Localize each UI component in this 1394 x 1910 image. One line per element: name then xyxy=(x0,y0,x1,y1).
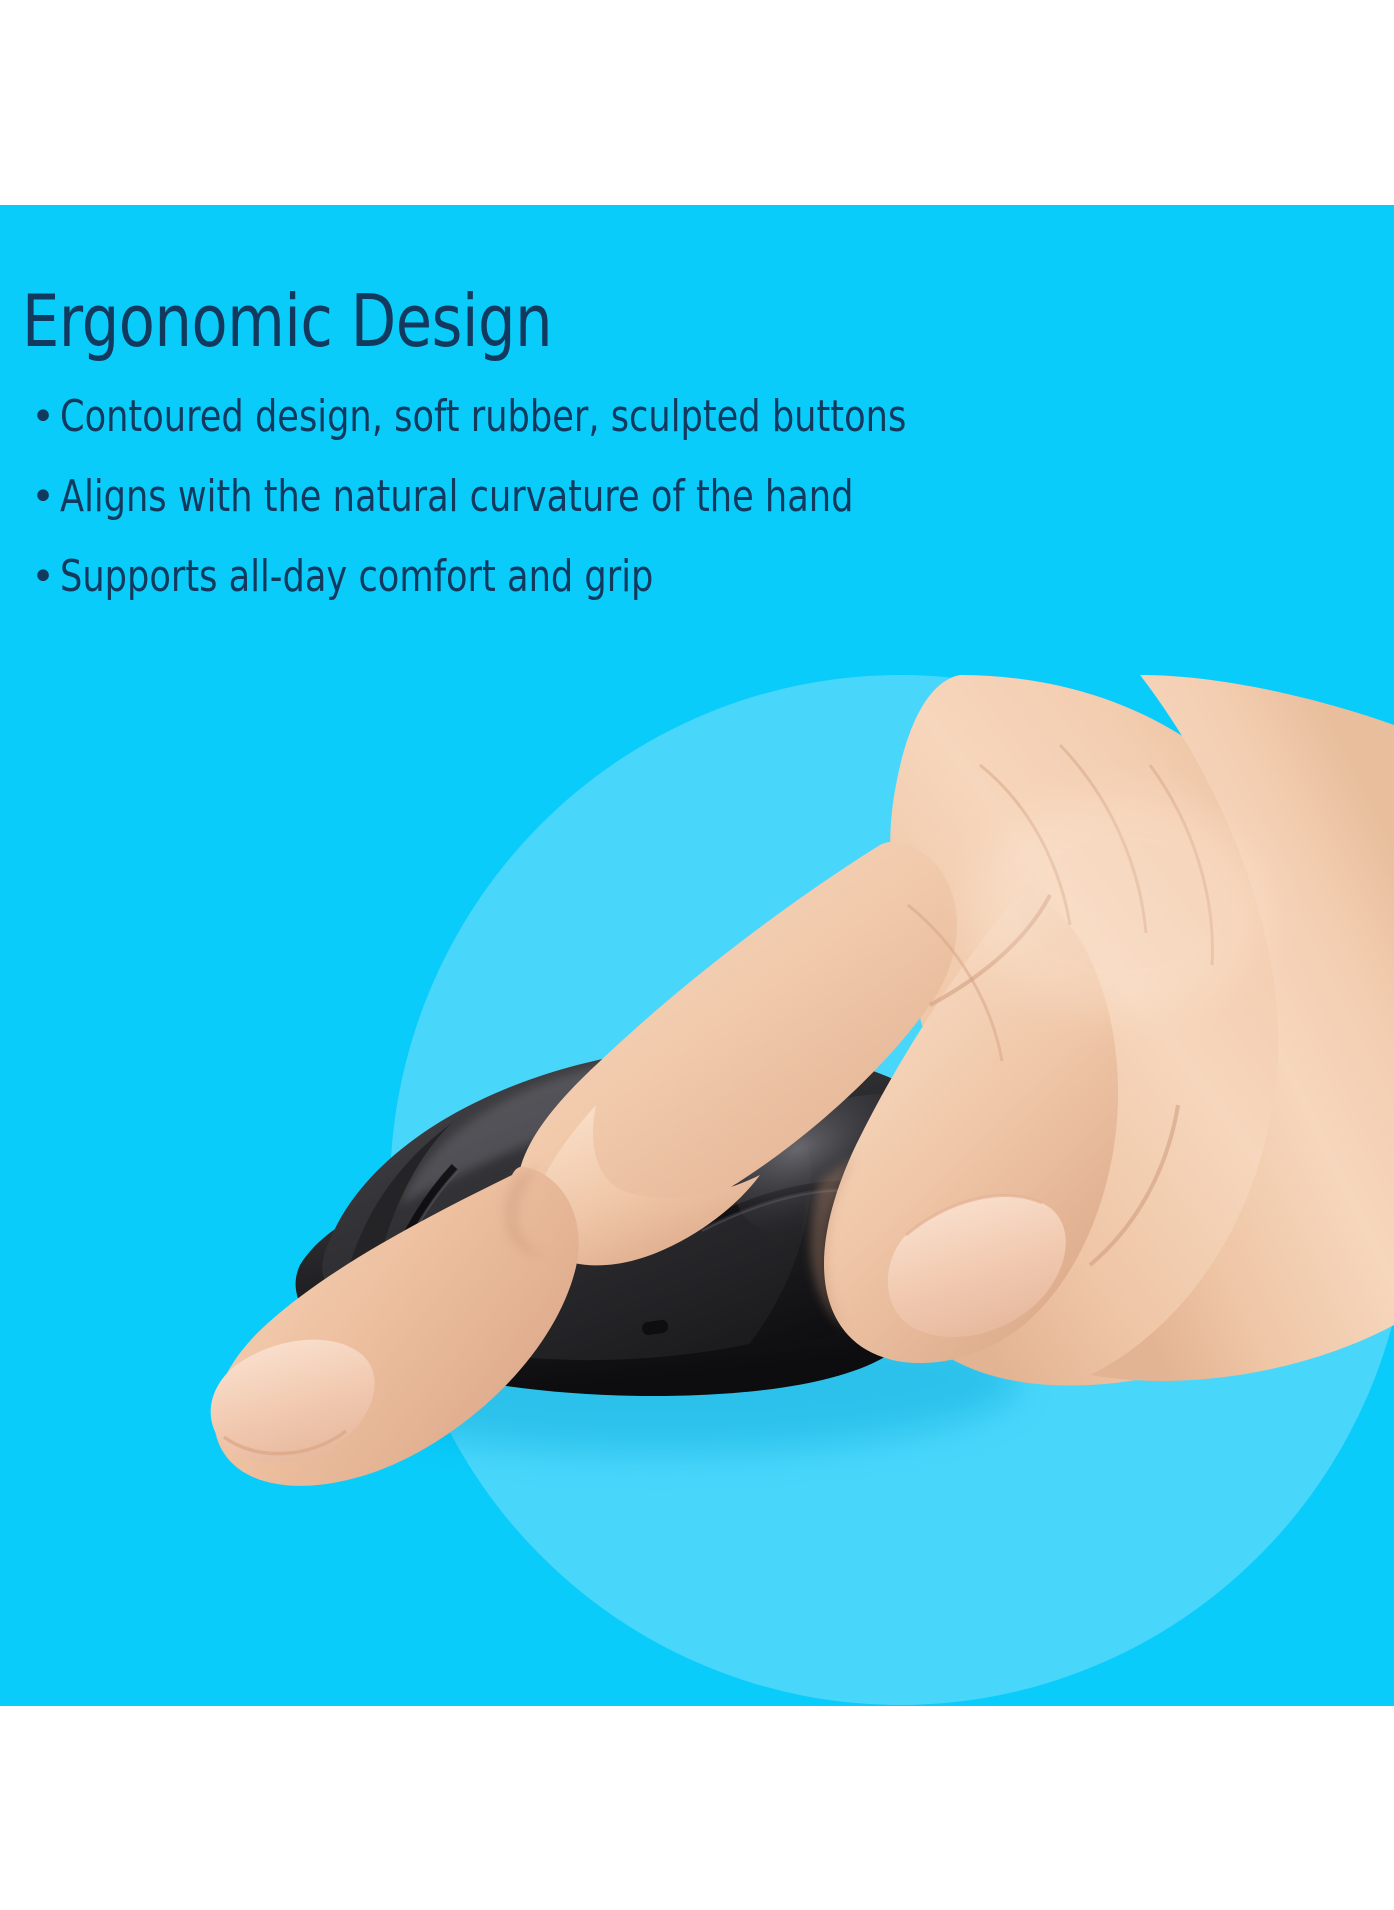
bullet-point-icon: • xyxy=(26,550,60,604)
top-white-margin xyxy=(0,0,1394,205)
list-item: • Supports all-day comfort and grip xyxy=(26,550,1326,606)
list-item-label: Supports all-day comfort and grip xyxy=(60,550,653,604)
list-item-label: Aligns with the natural curvature of the… xyxy=(60,470,853,524)
list-item: • Aligns with the natural curvature of t… xyxy=(26,470,1326,526)
bullet-point-icon: • xyxy=(26,470,60,524)
list-item: • Contoured design, soft rubber, sculpte… xyxy=(26,390,1326,446)
feature-panel: Ergonomic Design • Contoured design, sof… xyxy=(0,205,1394,1706)
background-accent-circle xyxy=(390,675,1394,1705)
product-feature-graphic: Ergonomic Design • Contoured design, sof… xyxy=(0,0,1394,1910)
page-title: Ergonomic Design xyxy=(22,279,552,363)
list-item-label: Contoured design, soft rubber, sculpted … xyxy=(60,390,906,444)
feature-bullet-list: • Contoured design, soft rubber, sculpte… xyxy=(26,390,1326,630)
bottom-white-margin xyxy=(0,1706,1394,1910)
bullet-point-icon: • xyxy=(26,390,60,444)
